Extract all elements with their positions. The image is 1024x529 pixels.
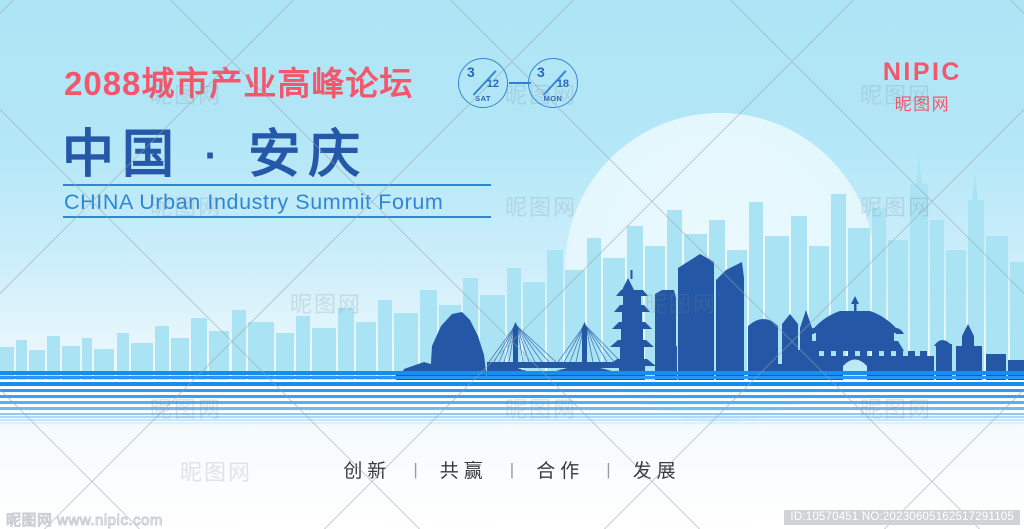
- brand-logo: NIPIC 昵图网: [883, 58, 962, 115]
- date-month: 3: [537, 64, 545, 80]
- page-title: 2088城市产业高峰论坛: [64, 57, 413, 105]
- city-title-country: 中国: [62, 126, 182, 184]
- city-title: 中国 · 安庆: [62, 112, 368, 187]
- title-rule-top: [63, 184, 491, 186]
- city-title-city: 安庆: [248, 126, 368, 184]
- event-date-group: 3 12 SAT 3 18 MON: [458, 58, 578, 108]
- slogan-item: 发展: [633, 456, 681, 483]
- footer-bar: 昵图网 www.nipic.com ID:10570451 NO:2023060…: [0, 505, 1024, 529]
- date-day: 18: [557, 78, 569, 90]
- date-badge-start: 3 12 SAT: [458, 58, 508, 108]
- english-subtitle: CHINA Urban Industry Summit Forum: [64, 190, 443, 215]
- slogan-separator: |: [413, 460, 417, 480]
- slogan-item: 创新: [343, 456, 391, 483]
- slogan-item: 合作: [536, 456, 584, 483]
- city-title-separator-dot: ·: [204, 134, 225, 178]
- date-weekday: MON: [529, 94, 577, 103]
- brand-name-cn: 昵图网: [883, 90, 962, 115]
- slogan-row: 创新 | 共赢 | 合作 | 发展: [0, 456, 1024, 483]
- slogan-separator: |: [606, 460, 610, 480]
- date-badge-end: 3 18 MON: [528, 58, 578, 108]
- footer-image-id: ID:10570451 NO:20230605162517291105: [784, 510, 1020, 525]
- brand-name-en: NIPIC: [883, 58, 962, 87]
- slogan-separator: |: [510, 460, 514, 480]
- date-month: 3: [467, 64, 475, 80]
- title-rule-bottom: [63, 216, 491, 218]
- date-weekday: SAT: [459, 94, 507, 103]
- footer-site-label: 昵图网 www.nipic.com: [6, 509, 163, 529]
- poster-canvas: 2088城市产业高峰论坛 3 12 SAT 3 18 MON 中国 · 安庆 C…: [0, 0, 1024, 529]
- water-stripes: [0, 371, 1024, 426]
- slogan-item: 共赢: [440, 456, 488, 483]
- date-day: 12: [487, 78, 499, 90]
